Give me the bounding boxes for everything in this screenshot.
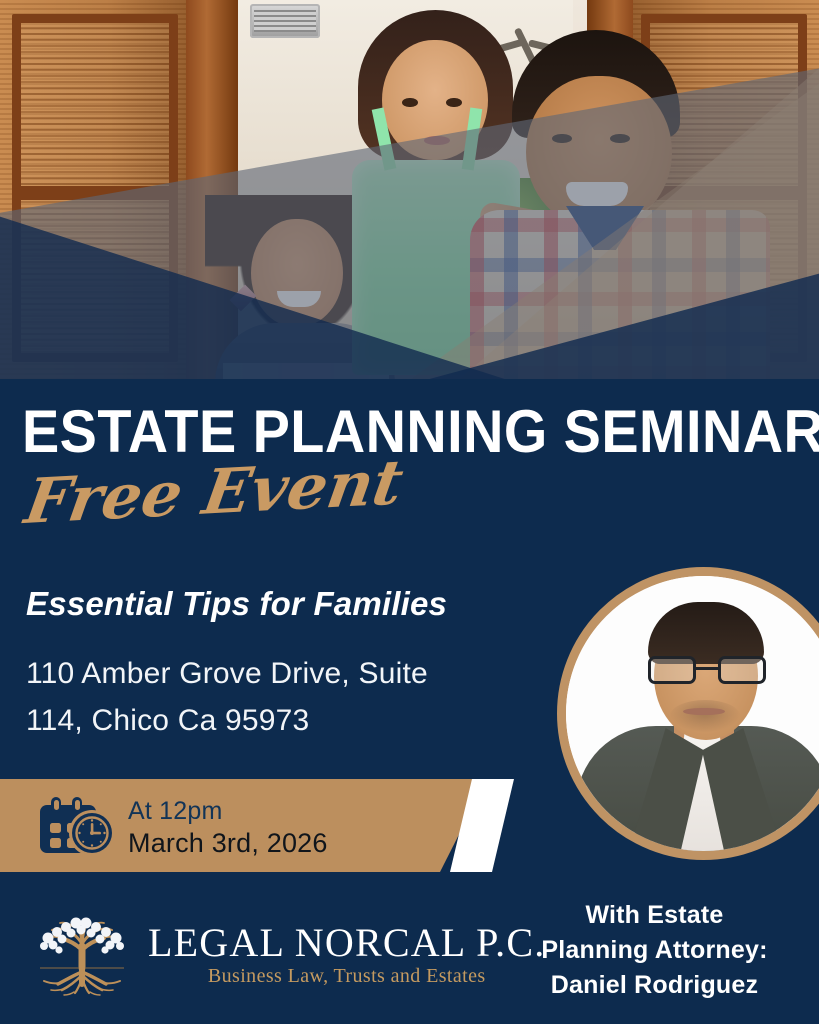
event-date: March 3rd, 2026 xyxy=(128,827,328,860)
attorney-credit: With Estate Planning Attorney: Daniel Ro… xyxy=(500,898,809,1003)
address-line-2: 114, Chico Ca 95973 xyxy=(26,697,476,744)
credit-line-3: Daniel Rodriguez xyxy=(500,968,809,1003)
address-line-1: 110 Amber Grove Drive, Suite xyxy=(26,650,476,697)
subtitle: Essential Tips for Families xyxy=(26,584,447,624)
credit-line-2: Planning Attorney: xyxy=(500,933,809,968)
flyer-poster: ESTATE PLANNING SEMINAR Free Event Essen… xyxy=(0,0,819,1024)
glasses-icon xyxy=(648,656,766,684)
logo-company-name: LEGAL NORCAL P.C. xyxy=(148,922,545,964)
tree-of-life-icon xyxy=(28,912,136,998)
date-time-text: At 12pm March 3rd, 2026 xyxy=(128,796,328,860)
event-time: At 12pm xyxy=(128,796,328,827)
avatar xyxy=(557,567,819,860)
logo-tagline: Business Law, Trusts and Estates xyxy=(148,964,545,988)
family-photo-image xyxy=(0,0,819,380)
calendar-clock-icon xyxy=(38,797,116,855)
venue-address: 110 Amber Grove Drive, Suite 114, Chico … xyxy=(26,650,476,744)
air-conditioner-vents xyxy=(254,10,316,32)
credit-line-1: With Estate xyxy=(500,898,809,933)
hero-photo xyxy=(0,0,819,380)
brand-logo[interactable]: LEGAL NORCAL P.C. Business Law, Trusts a… xyxy=(28,912,498,998)
